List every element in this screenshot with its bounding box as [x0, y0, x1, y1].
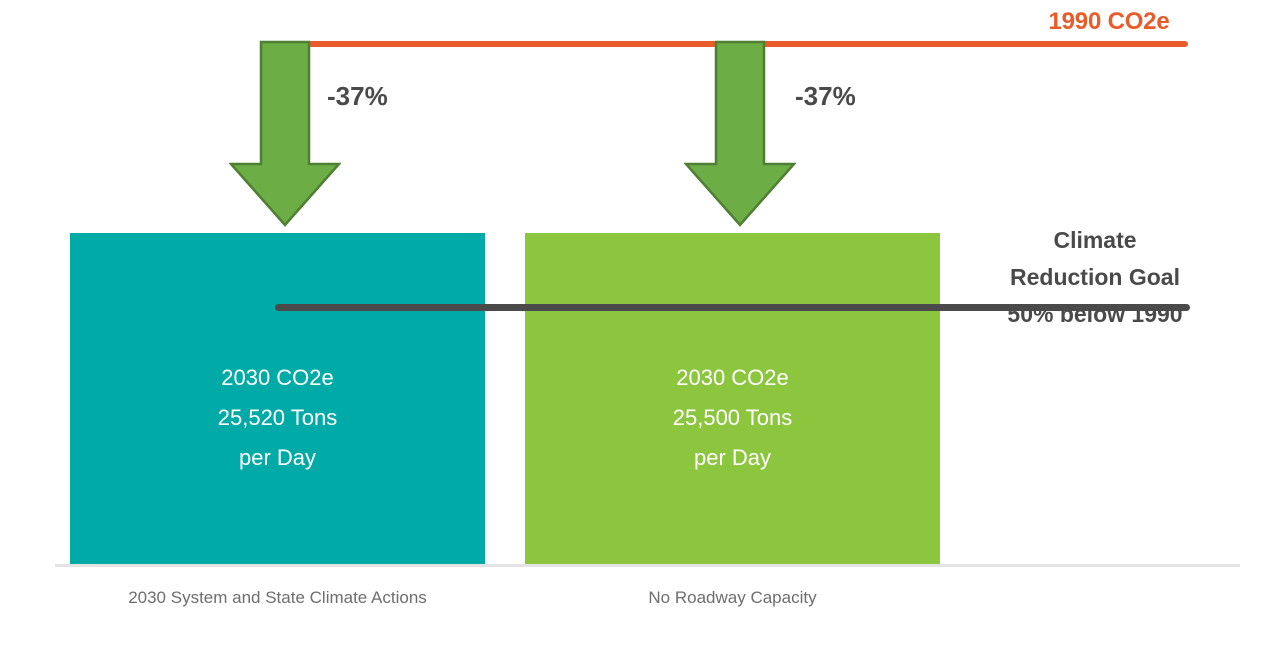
bar-2030-system-and-state-climate-actions: 2030 CO2e 25,520 Tons per Day — [70, 233, 485, 564]
chart-canvas: 1990 CO2e -37% -37% 2030 CO2e 25,520 Ton… — [0, 0, 1271, 652]
goal-heading-line-1: Climate — [950, 222, 1240, 259]
category-label-right: No Roadway Capacity — [525, 588, 940, 608]
reduction-label-right: -37% — [795, 81, 856, 112]
bar-value-line-3: per Day — [525, 438, 940, 478]
goal-heading-line-3: 50% below 1990 — [950, 296, 1240, 333]
bar-value-label-right: 2030 CO2e 25,500 Tons per Day — [525, 358, 940, 478]
bar-value-line-2: 25,520 Tons — [70, 398, 485, 438]
goal-heading-line-2: Reduction Goal — [950, 259, 1240, 296]
climate-reduction-goal-label: Climate Reduction Goal 50% below 1990 — [950, 222, 1240, 333]
bar-value-line-1: 2030 CO2e — [525, 358, 940, 398]
down-arrow-icon-right — [684, 40, 796, 233]
down-arrow-icon-left — [229, 40, 341, 233]
category-label-left: 2030 System and State Climate Actions — [70, 588, 485, 608]
reference-line-1990-label: 1990 CO2e — [1028, 8, 1190, 36]
bar-no-roadway-capacity: 2030 CO2e 25,500 Tons per Day — [525, 233, 940, 564]
bar-value-line-2: 25,500 Tons — [525, 398, 940, 438]
chart-baseline — [55, 564, 1240, 567]
bar-value-line-1: 2030 CO2e — [70, 358, 485, 398]
bar-value-line-3: per Day — [70, 438, 485, 478]
bar-value-label-left: 2030 CO2e 25,520 Tons per Day — [70, 358, 485, 478]
